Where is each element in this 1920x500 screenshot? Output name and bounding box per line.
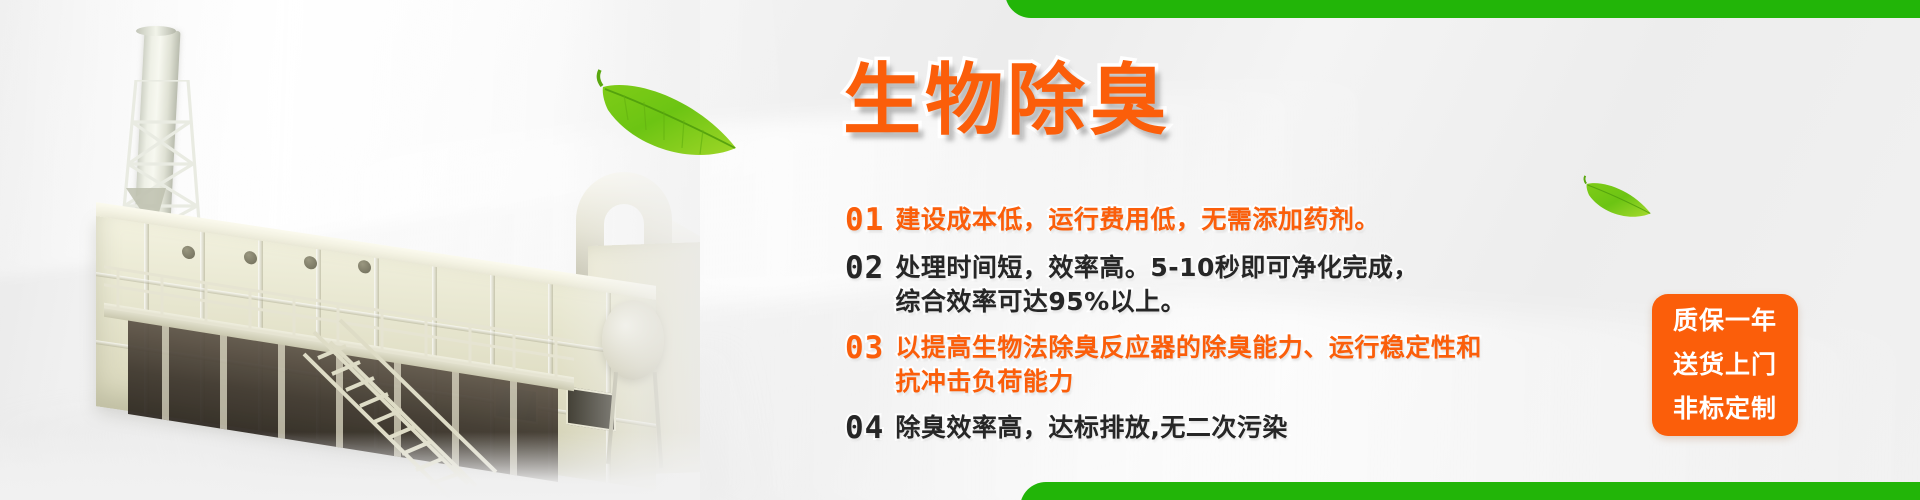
- badge-line-custom: 非标定制: [1673, 387, 1777, 431]
- bullet-line-1: 除臭效率高，达标排放,无二次污染: [895, 413, 1288, 442]
- green-bar-top: [1005, 0, 1920, 18]
- bullet-line-1: 建设成本低，运行费用低，无需添加药剂。: [895, 205, 1380, 234]
- bullet-line-1: 以提高生物法除臭反应器的除臭能力、运行稳定性和: [895, 333, 1482, 362]
- bullet-number: 02: [845, 251, 884, 285]
- guarantee-badge: 质保一年 送货上门 非标定制: [1652, 294, 1798, 436]
- list-item: 03 以提高生物法除臭反应器的除臭能力、运行稳定性和 抗冲击负荷能力: [845, 331, 1645, 399]
- list-item: 02 处理时间短，效率高。5-10秒即可净化完成， 综合效率可达95%以上。: [845, 251, 1645, 319]
- bullet-line-2: 综合效率可达95%以上。: [895, 285, 1419, 319]
- green-bar-bottom: [1020, 482, 1920, 500]
- bullet-number: 03: [845, 331, 884, 365]
- bullet-number: 01: [845, 203, 884, 237]
- badge-line-warranty: 质保一年: [1673, 299, 1777, 343]
- chimney-cap: [136, 26, 176, 36]
- bullet-text: 以提高生物法除臭反应器的除臭能力、运行稳定性和 抗冲击负荷能力: [895, 331, 1482, 399]
- photo-bottom-fade: [0, 432, 700, 500]
- bullet-text: 处理时间短，效率高。5-10秒即可净化完成， 综合效率可达95%以上。: [895, 251, 1419, 319]
- leaf-icon: [590, 62, 742, 170]
- promo-banner: 生物除臭 01 建设成本低，运行费用低，无需添加药剂。 02 处理时间短，效率高…: [0, 0, 1920, 500]
- feature-list: 01 建设成本低，运行费用低，无需添加药剂。 02 处理时间短，效率高。5-10…: [845, 203, 1645, 454]
- bullet-number: 04: [845, 411, 884, 445]
- bullet-line-2: 抗冲击负荷能力: [895, 365, 1482, 399]
- bullet-line-1: 处理时间短，效率高。5-10秒即可净化完成，: [895, 253, 1419, 282]
- bullet-text: 除臭效率高，达标排放,无二次污染: [895, 411, 1288, 445]
- list-item: 04 除臭效率高，达标排放,无二次污染: [845, 411, 1645, 445]
- list-item: 01 建设成本低，运行费用低，无需添加药剂。: [845, 203, 1645, 237]
- badge-line-delivery: 送货上门: [1673, 343, 1777, 387]
- page-title: 生物除臭: [843, 62, 1171, 140]
- bullet-text: 建设成本低，运行费用低，无需添加药剂。: [895, 203, 1380, 237]
